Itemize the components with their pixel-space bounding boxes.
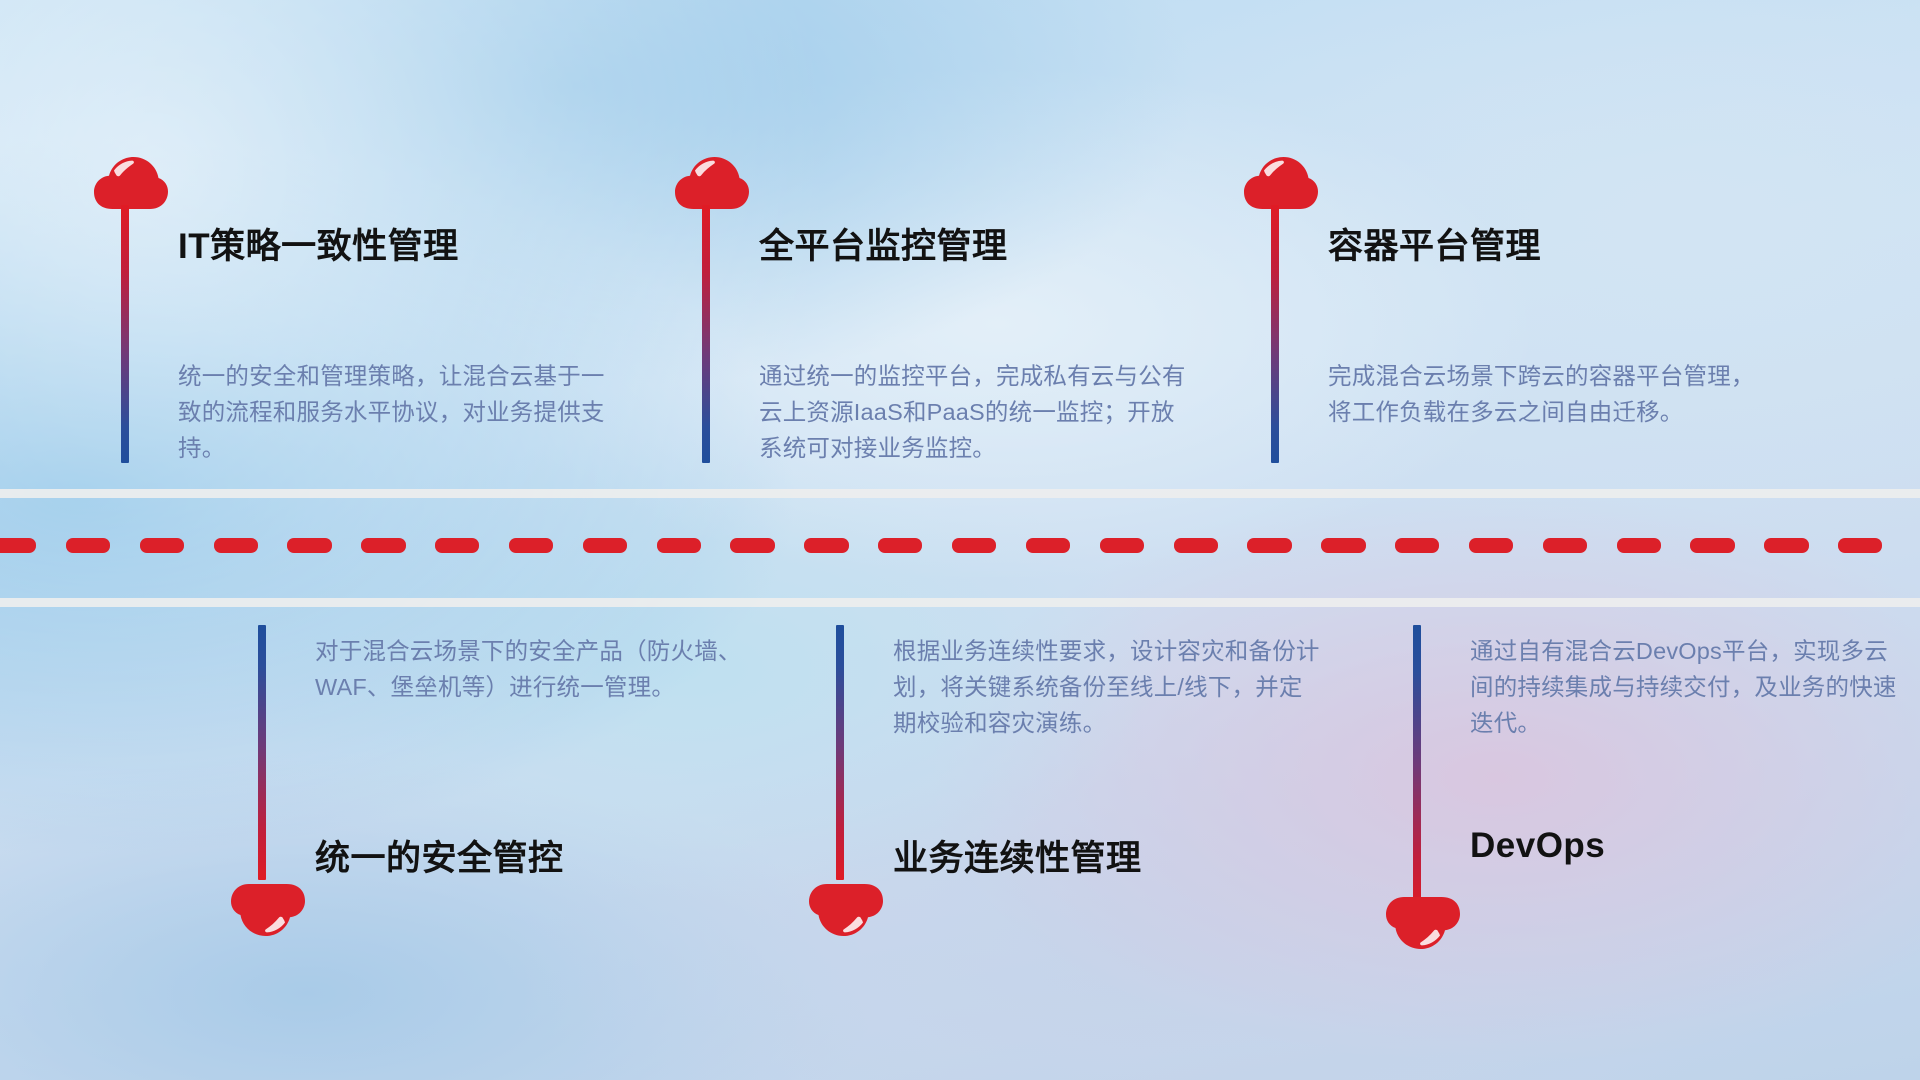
card-title: IT策略一致性管理 [178,218,459,269]
road-dash [1395,538,1439,553]
card-description: 根据业务连续性要求，设计容灾和备份计划，将关键系统备份至线上/线下，并定期校验和… [893,633,1323,741]
road-dash [435,538,479,553]
road-dash [361,538,405,553]
cloud-pin-icon [1242,155,1320,211]
road-dash [1100,538,1144,553]
road-dash [287,538,331,553]
road-dash [214,538,258,553]
cloud-pin-icon [229,882,307,938]
road-line-lower [0,598,1920,607]
card-title: 业务连续性管理 [893,830,1142,881]
stem-connector [121,205,129,463]
road-dash [1469,538,1513,553]
road-dash [1838,538,1882,553]
road-dash [878,538,922,553]
road-dash [509,538,553,553]
road-line-upper [0,489,1920,498]
stem-connector [1271,205,1279,463]
cloud-pin-icon [1384,895,1462,951]
road-dash [140,538,184,553]
road-dash [1617,538,1661,553]
cloud-pin-icon [92,155,170,211]
road-dash [1026,538,1070,553]
road-dash [1247,538,1291,553]
road-dash [583,538,627,553]
cloud-pin-icon [807,882,885,938]
road-dash [1543,538,1587,553]
card-description: 通过自有混合云DevOps平台，实现多云间的持续集成与持续交付，及业务的快速迭代… [1470,633,1900,741]
card-title: 统一的安全管控 [315,830,564,881]
card-description: 对于混合云场景下的安全产品（防火墙、WAF、堡垒机等）进行统一管理。 [315,633,745,705]
road-dash [0,538,36,553]
road-dash [66,538,110,553]
card-description: 统一的安全和管理策略，让混合云基于一致的流程和服务水平协议，对业务提供支持。 [178,358,608,466]
card-title: 全平台监控管理 [759,218,1008,269]
stem-connector [258,625,266,880]
card-description: 完成混合云场景下跨云的容器平台管理，将工作负载在多云之间自由迁移。 [1328,358,1758,430]
infographic-canvas: IT策略一致性管理 统一的安全和管理策略，让混合云基于一致的流程和服务水平协议，… [0,0,1920,1080]
stem-connector [1413,625,1421,915]
cloud-pin-icon [673,155,751,211]
card-title: DevOps [1470,826,1605,866]
road-dash [657,538,701,553]
road-dash [730,538,774,553]
card-description: 通过统一的监控平台，完成私有云与公有云上资源IaaS和PaaS的统一监控；开放系… [759,358,1189,466]
road-dash [1321,538,1365,553]
stem-connector [702,205,710,463]
road-dash [804,538,848,553]
road-dash [1174,538,1218,553]
road-dashed-centerline [0,538,1920,553]
road-dash [1764,538,1808,553]
card-title: 容器平台管理 [1328,218,1541,269]
road-dash [1690,538,1734,553]
road-dash [952,538,996,553]
stem-connector [836,625,844,880]
